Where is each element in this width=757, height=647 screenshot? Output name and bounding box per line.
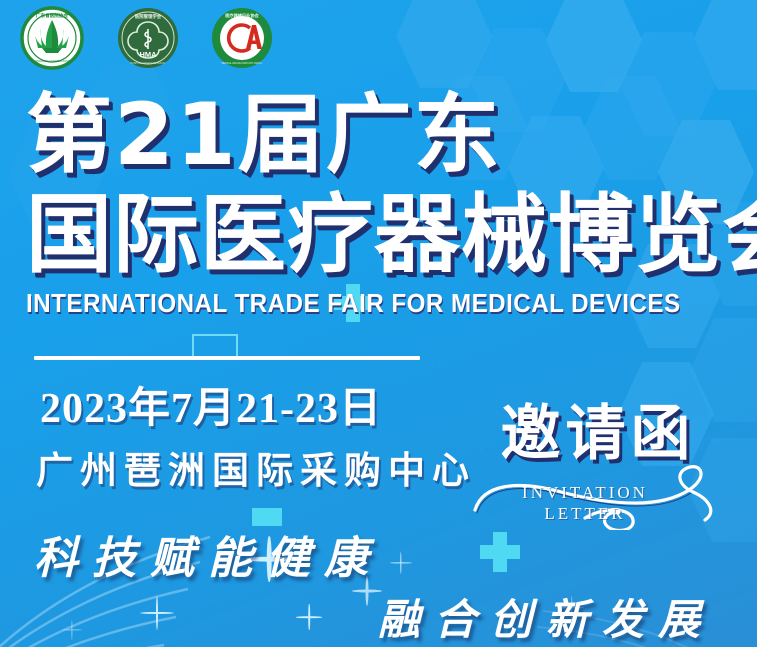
sparkle-icon (62, 620, 82, 640)
headline-english: INTERNATIONAL TRADE FAIR FOR MEDICAL DEV… (26, 288, 754, 319)
invitation-block: 邀请函 INVITATION LETTER (473, 404, 723, 524)
svg-text:HOSPITAL MANAGERS ASSOC.: HOSPITAL MANAGERS ASSOC. (130, 62, 166, 65)
svg-text:医院管理学会: 医院管理学会 (135, 13, 162, 20)
square-outline-accent (192, 334, 238, 358)
svg-text:GUANGDONG HOSPITAL ASSOC.: GUANGDONG HOSPITAL ASSOC. (32, 59, 73, 63)
exhibition-invitation-poster: 广东省医院协会 GUANGDONG HOSPITAL ASSOC. 医院管理学会… (0, 0, 757, 647)
logo-guangdong-provincial-hospital-association[interactable]: 广东省医院协会 GUANGDONG HOSPITAL ASSOC. (18, 6, 90, 70)
logo-medical-device-industry-association[interactable]: 医疗器械行业协会 MEDICAL DEVICE INDUSTRY ASSOC. (206, 6, 278, 70)
slogan-right: 融合创新发展 (378, 586, 714, 647)
logo-hospital-managers-association[interactable]: 医院管理学会 HMA HOSPITAL MANAGERS ASSOC. (112, 6, 184, 70)
svg-text:广东省医院协会: 广东省医院协会 (36, 12, 69, 19)
svg-text:HMA: HMA (139, 50, 157, 59)
event-date: 2023年7月21-23日 (40, 374, 382, 435)
svg-text:MEDICAL DEVICE INDUSTRY ASSOC.: MEDICAL DEVICE INDUSTRY ASSOC. (222, 62, 263, 65)
medical-cross-icon (480, 532, 520, 572)
headline-line-1: 第21届广东 (26, 92, 757, 178)
association-logos: 广东省医院协会 GUANGDONG HOSPITAL ASSOC. 医院管理学会… (18, 6, 278, 70)
poster-headline: 第21届广东 国际医疗器械博览会 INTERNATIONAL TRADE FAI… (26, 92, 757, 319)
svg-text:医疗器械行业协会: 医疗器械行业协会 (225, 12, 259, 19)
sparkle-icon (140, 596, 174, 630)
invitation-en-line-1: INVITATION (495, 482, 675, 503)
invitation-title-en: INVITATION LETTER (495, 482, 675, 525)
invitation-en-line-2: LETTER (495, 503, 675, 524)
headline-line-2: 国际医疗器械博览会 (26, 192, 757, 278)
sparkle-icon (296, 604, 322, 630)
invitation-title-cn: 邀请函 (473, 404, 723, 464)
slogan-left: 科技赋能健康 (34, 522, 382, 586)
headline-divider (34, 356, 420, 360)
sparkle-icon (390, 552, 412, 574)
event-venue: 广州琶洲国际采购中心 (36, 440, 476, 494)
